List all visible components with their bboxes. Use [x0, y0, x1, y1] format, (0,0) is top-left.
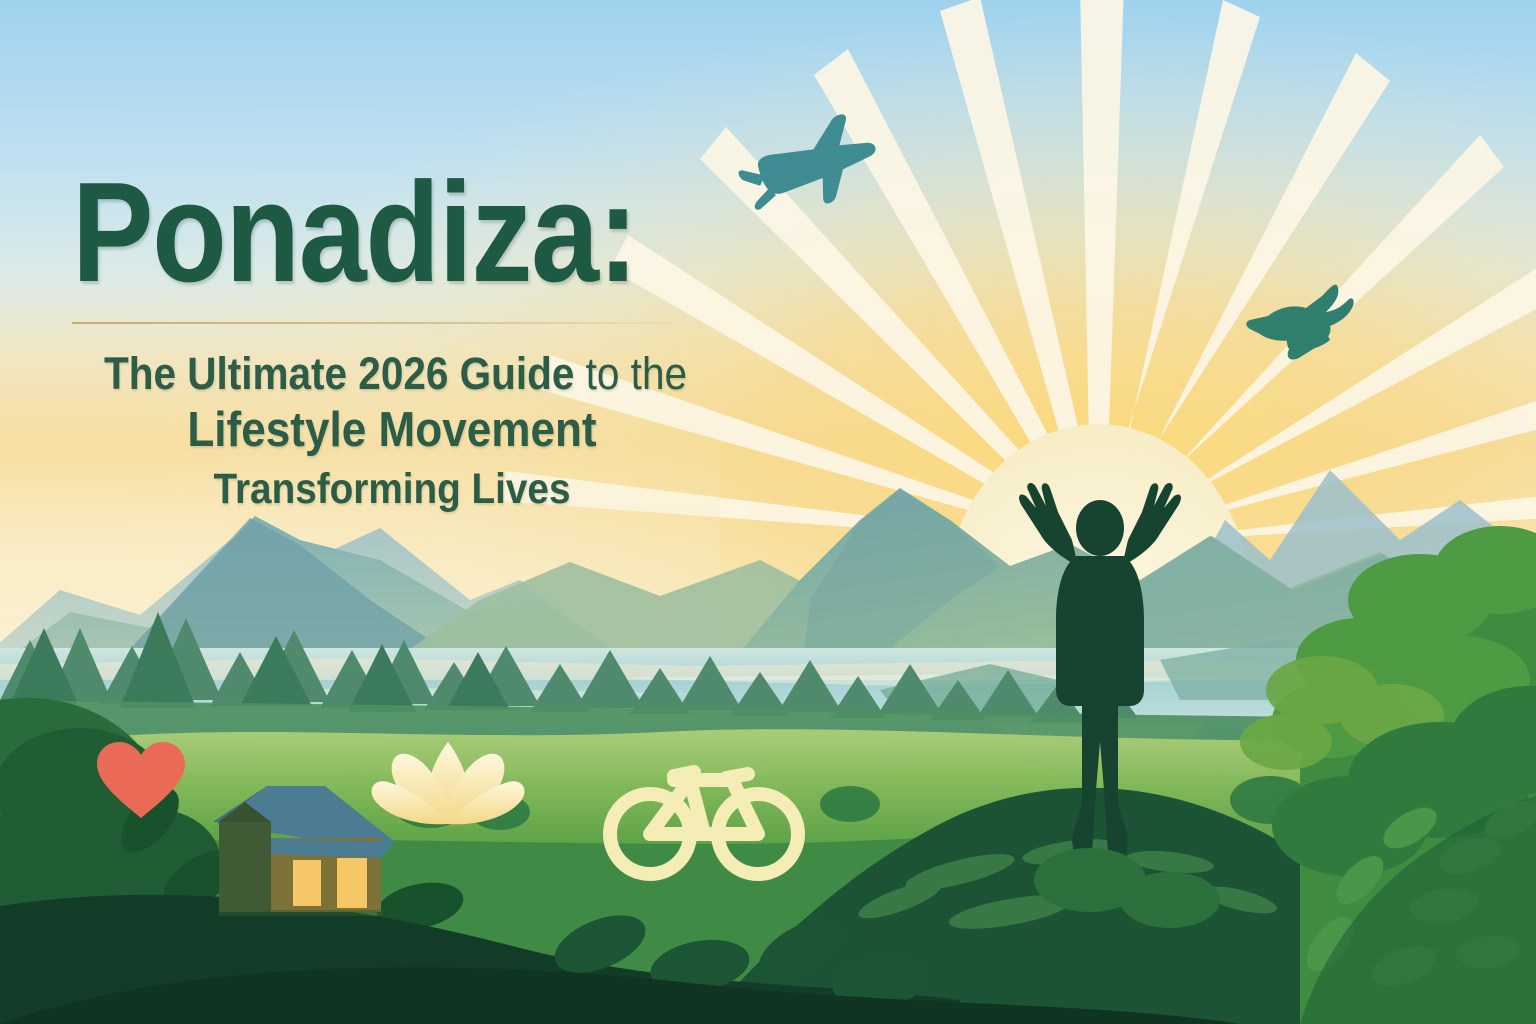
hero-banner: Ponadiza: The Ultimate 2026 Guide to the… [0, 0, 1536, 1024]
scene-illustration [0, 0, 1536, 1024]
